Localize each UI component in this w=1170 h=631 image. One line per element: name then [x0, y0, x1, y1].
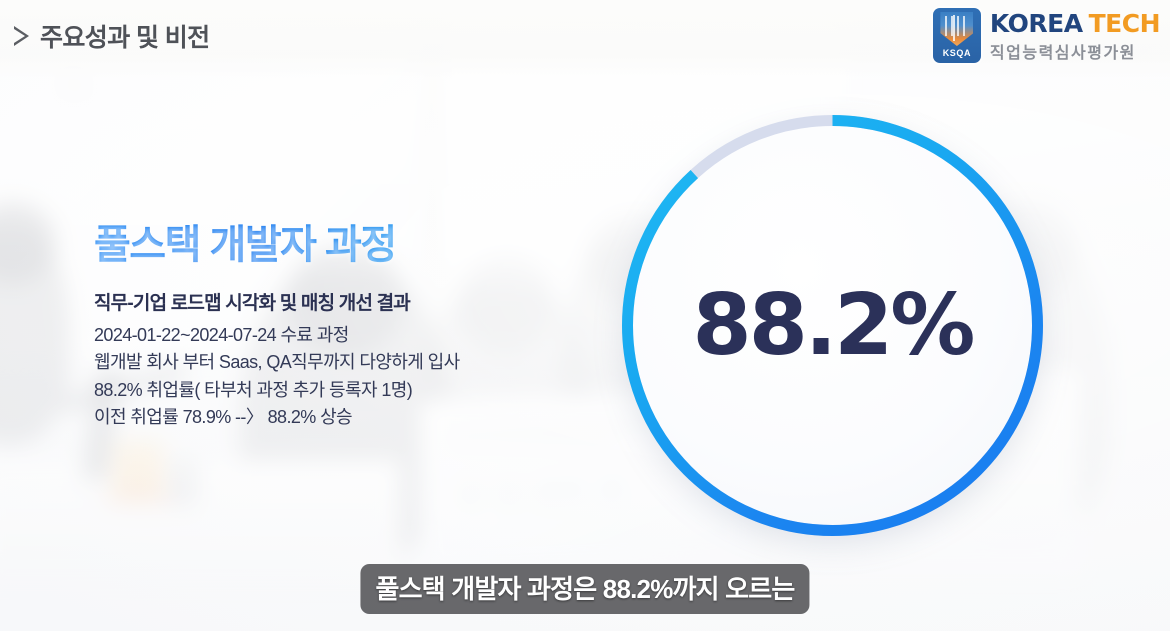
- detail-line-1: 2024-01-22~2024-07-24 수료 과정: [94, 322, 460, 349]
- breadcrumb: 주요성과 및 비전: [14, 18, 210, 54]
- play-triangle-icon: [14, 26, 29, 46]
- brand-wordmark: KOREA TECH 직업능력심사평가원: [990, 9, 1160, 63]
- brand-wordmark-row: KOREA TECH: [990, 9, 1160, 38]
- detail-line-4: 이전 취업률 78.9% --〉 88.2% 상승: [94, 404, 460, 431]
- breadcrumb-label: 주요성과 및 비전: [40, 18, 210, 54]
- subtitle-caption: 풀스택 개발자 과정은 88.2%까지 오르는: [360, 564, 809, 614]
- subtitle-caption-text: 풀스택 개발자 과정은 88.2%까지 오르는: [375, 574, 794, 604]
- course-subheading: 직무-기업 로드맵 시각화 및 매칭 개선 결과: [94, 288, 460, 315]
- brand-word-tech: TECH: [1089, 9, 1160, 38]
- course-title: 풀스택 개발자 과정: [94, 212, 460, 270]
- brand-logo: KSQA KOREA TECH 직업능력심사평가원: [933, 8, 1160, 63]
- brand-subtitle: 직업능력심사평가원: [990, 39, 1160, 63]
- ksqa-emblem-label: KSQA: [943, 48, 971, 58]
- employment-rate-donut-chart: 88.2%: [605, 98, 1060, 553]
- detail-line-2: 웹개발 회사 부터 Saas, QA직무까지 다양하게 입사: [94, 349, 460, 376]
- course-info-block: 풀스택 개발자 과정 직무-기업 로드맵 시각화 및 매칭 개선 결과 2024…: [94, 212, 460, 431]
- brand-word-korea: KOREA: [990, 9, 1083, 38]
- ksqa-shield-icon: [940, 12, 973, 46]
- donut-center-value: 88.2%: [605, 98, 1060, 553]
- detail-line-3: 88.2% 취업률( 타부처 과정 추가 등록자 1명): [94, 377, 460, 404]
- video-frame: N 한 번 변부 로: [0, 0, 1170, 631]
- ksqa-emblem: KSQA: [933, 8, 981, 63]
